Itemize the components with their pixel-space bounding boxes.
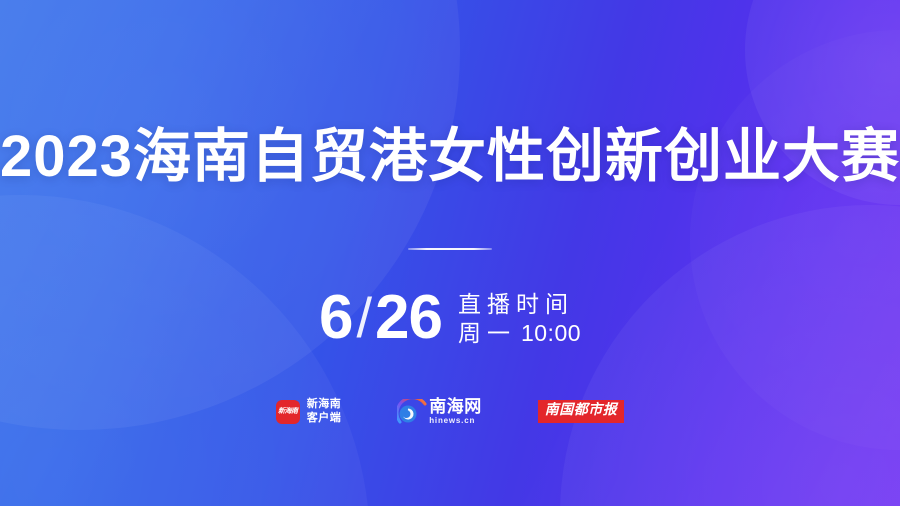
date-day: 26: [375, 287, 442, 349]
broadcast-time-value: 周一 10:00: [458, 319, 581, 348]
background-circle-bottom-right: [560, 205, 900, 506]
broadcast-time-column: 直播时间 周一 10:00: [458, 290, 581, 349]
logo-xinhainan[interactable]: 新海南 新海南 客户端: [276, 398, 342, 426]
xinhainan-app-icon: 新海南: [276, 400, 300, 424]
xinhainan-label-line1: 新海南: [307, 398, 342, 412]
livestream-poster: 2023海南自贸港女性创新创业大赛 6 / 26 直播时间 周一 10:00 新…: [0, 0, 900, 506]
background-circle-bottom-left: [0, 195, 370, 506]
broadcast-clock: 10:00: [521, 319, 581, 348]
logo-nanguo-metropolis-daily[interactable]: 南国都市报: [538, 400, 625, 423]
background-circle-middle-right: [690, 30, 900, 450]
xinhainan-label-line2: 客户端: [307, 412, 342, 426]
schedule-block: 6 / 26 直播时间 周一 10:00: [0, 287, 900, 349]
broadcast-weekday: 周一: [458, 319, 516, 348]
broadcast-date: 6 / 26: [319, 287, 442, 349]
hinews-label-cn: 南海网: [429, 398, 482, 415]
title-divider: [408, 248, 492, 250]
date-separator: /: [356, 290, 372, 346]
date-month: 6: [319, 287, 352, 349]
logo-hinews[interactable]: 南海网 hinews.cn: [397, 398, 482, 425]
hinews-swirl-icon: [397, 399, 427, 425]
nanguo-daily-label: 南国都市报: [538, 400, 625, 423]
xinhainan-label: 新海南 客户端: [307, 398, 342, 426]
hinews-label-en: hinews.cn: [429, 417, 475, 425]
page-title: 2023海南自贸港女性创新创业大赛: [0, 126, 900, 189]
hinews-label: 南海网 hinews.cn: [429, 398, 482, 425]
broadcast-time-label: 直播时间: [458, 290, 581, 319]
sponsor-logo-strip: 新海南 新海南 客户端: [0, 398, 900, 426]
background-circle-top-left: [0, 0, 460, 430]
background-sheen: [0, 0, 900, 506]
